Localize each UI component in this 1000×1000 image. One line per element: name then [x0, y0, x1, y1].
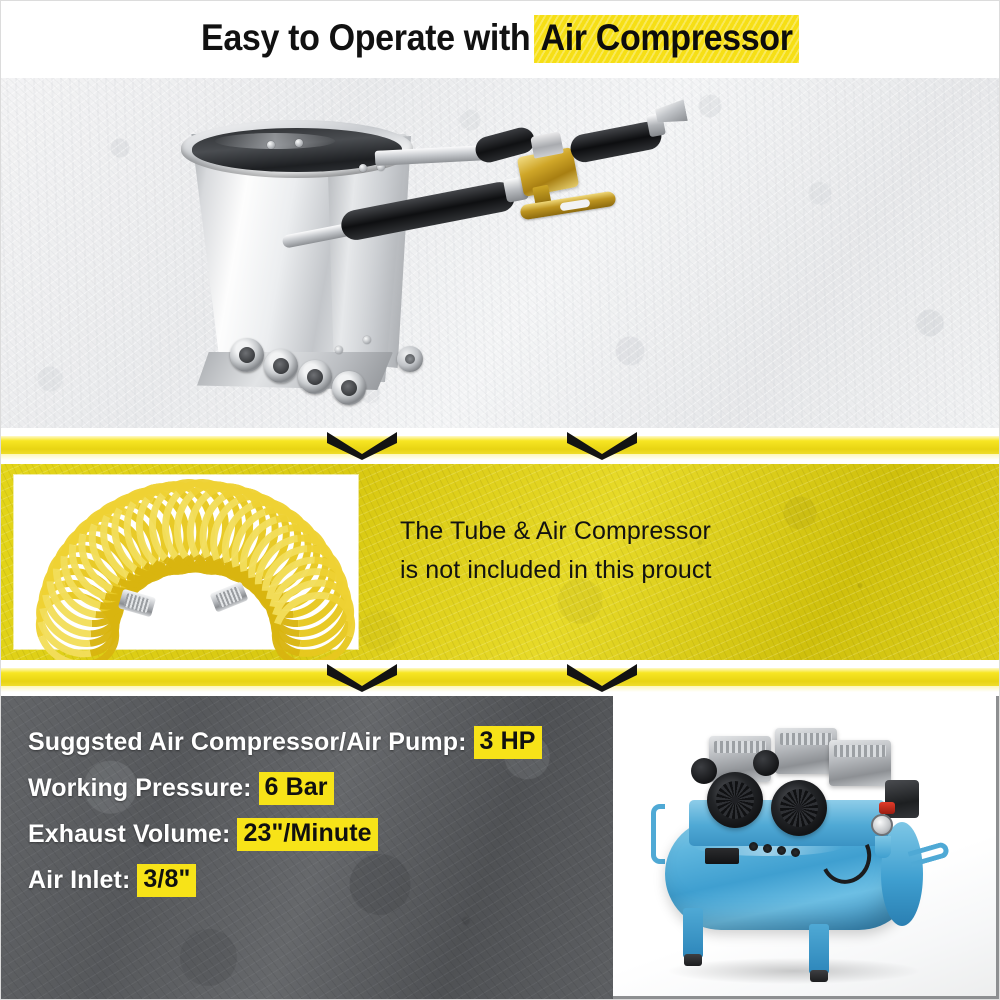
motor-head — [829, 740, 891, 786]
compressor-photo — [613, 696, 1000, 1000]
spec-plate — [705, 848, 739, 864]
page-title: Easy to Operate withAir Compressor — [201, 15, 799, 63]
product-photo-panel — [0, 78, 1000, 428]
spec-label: Exhaust Volume: — [28, 820, 230, 849]
divider-top — [0, 428, 1000, 464]
title-highlight-text: Air Compressor — [534, 15, 799, 63]
spec-value-badge: 23"/Minute — [237, 818, 377, 851]
compressor-handle-left — [651, 804, 665, 864]
bolt — [359, 164, 367, 172]
hose-photo-card — [14, 475, 358, 649]
spec-label: Suggsted Air Compressor/Air Pump: — [28, 728, 467, 757]
compressor-foot — [810, 970, 828, 982]
compressor-leg — [683, 908, 703, 958]
chevron-down-icon — [325, 430, 399, 460]
compressor-leg — [809, 924, 829, 974]
hopper-roller — [397, 346, 423, 372]
nozzle-port — [332, 371, 366, 405]
control-knob — [777, 846, 786, 855]
note-line-2: is not included in this prouct — [400, 551, 712, 590]
spec-row: Air Inlet:3/8" — [28, 864, 598, 897]
spec-value-badge: 3/8" — [137, 864, 196, 897]
regulator-knob — [879, 802, 895, 814]
chevron-down-icon — [325, 662, 399, 692]
bolt — [363, 336, 371, 344]
coiled-air-hose-illustration — [38, 493, 338, 633]
cooling-fan — [707, 772, 763, 828]
hopper-opening-sheen — [215, 133, 335, 149]
filter-bowl — [875, 836, 891, 858]
exclusion-note: The Tube & Air Compressor is not include… — [400, 512, 712, 590]
control-knob — [791, 848, 800, 857]
spec-label: Working Pressure: — [28, 774, 252, 803]
spec-value-badge: 6 Bar — [259, 772, 334, 805]
control-knob — [763, 844, 772, 853]
control-knob — [749, 842, 758, 851]
divider-band-lower — [0, 454, 1000, 460]
title-bar: Easy to Operate withAir Compressor — [0, 0, 1000, 78]
spec-label: Air Inlet: — [28, 866, 130, 895]
air-filter-muffler — [753, 750, 779, 776]
specs-panel: Suggsted Air Compressor/Air Pump:3 HPWor… — [0, 696, 1000, 1000]
nozzle-port — [298, 360, 332, 394]
compressor-shadow — [669, 958, 919, 984]
specs-background: Suggsted Air Compressor/Air Pump:3 HPWor… — [0, 696, 613, 1000]
spec-row: Exhaust Volume:23"/Minute — [28, 818, 598, 851]
note-line-1: The Tube & Air Compressor — [400, 512, 712, 551]
cooling-fan — [771, 780, 827, 836]
bolt — [295, 139, 303, 147]
pressure-gauge — [871, 814, 893, 836]
divider-band-lower — [0, 686, 1000, 692]
nozzle-port — [230, 338, 264, 372]
stucco-wall-texture — [0, 78, 1000, 428]
bolt — [267, 141, 275, 149]
air-filter-muffler — [691, 758, 717, 784]
divider-bottom — [0, 660, 1000, 696]
chevron-down-icon — [565, 662, 639, 692]
compressor-foot — [684, 954, 702, 966]
nozzle-port — [264, 349, 298, 383]
motor-head — [775, 728, 837, 774]
infographic-root: Easy to Operate withAir Compressor — [0, 0, 1000, 1000]
chevron-down-icon — [565, 430, 639, 460]
spec-row: Working Pressure:6 Bar — [28, 772, 598, 805]
title-plain-text: Easy to Operate with — [201, 17, 530, 58]
spec-list: Suggsted Air Compressor/Air Pump:3 HPWor… — [28, 726, 598, 910]
note-panel: The Tube & Air Compressor is not include… — [0, 464, 1000, 660]
bolt — [335, 346, 343, 354]
hopper-gun-illustration — [175, 106, 435, 396]
spec-value-badge: 3 HP — [474, 726, 542, 759]
spec-row: Suggsted Air Compressor/Air Pump:3 HP — [28, 726, 598, 759]
